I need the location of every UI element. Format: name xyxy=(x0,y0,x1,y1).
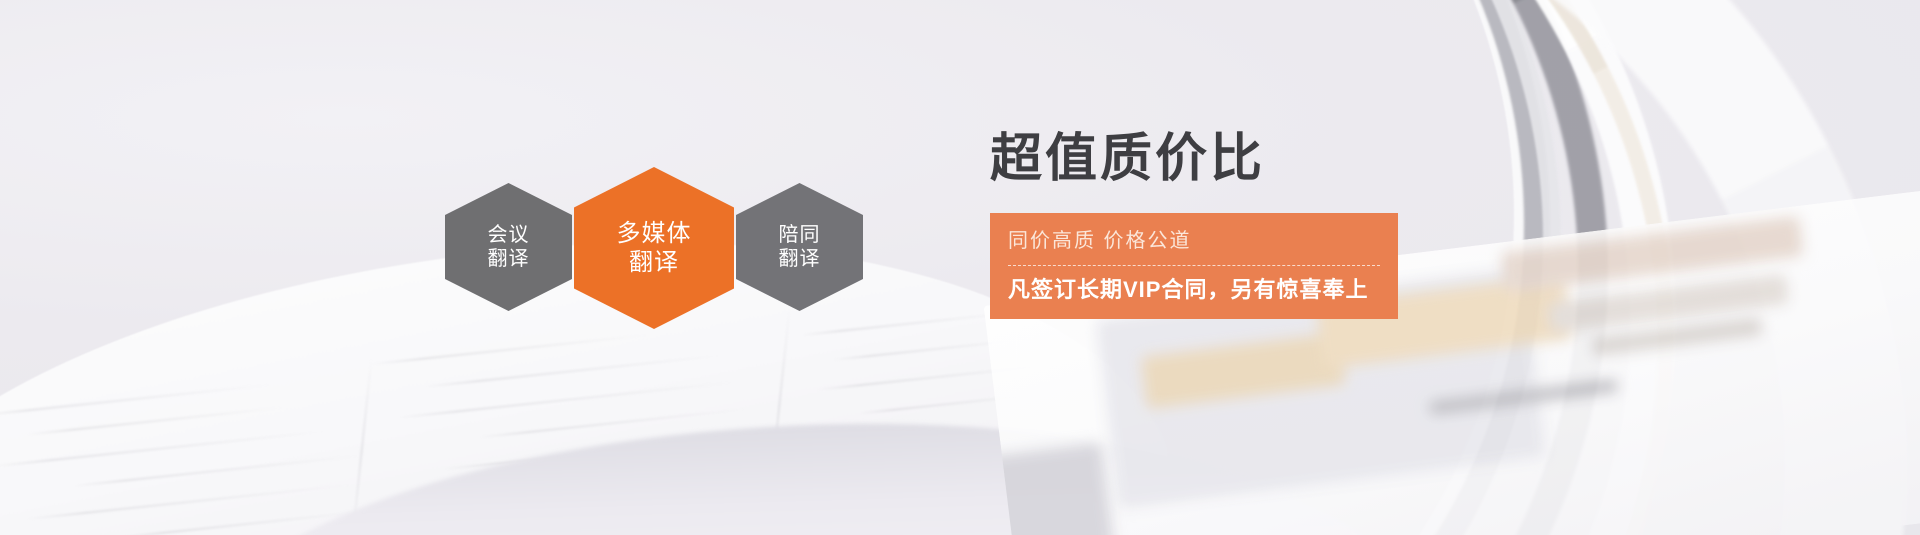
headline: 超值质价比 xyxy=(990,132,1510,187)
promotional-banner: 会议 翻译 多媒体 翻译 陪同 翻译 超值质价比 同价高质 价格公道 凡签订长期… xyxy=(0,0,1920,535)
promo-box: 同价高质 价格公道 凡签订长期VIP合同，另有惊喜奉上 xyxy=(990,213,1398,320)
copy-block: 超值质价比 同价高质 价格公道 凡签订长期VIP合同，另有惊喜奉上 xyxy=(990,132,1510,319)
hexagon-label-line2: 翻译 xyxy=(629,248,679,277)
promo-offer-text: 凡签订长期VIP合同，另有惊喜奉上 xyxy=(1008,275,1380,305)
hexagon-label-line1: 陪同 xyxy=(779,223,821,247)
hexagon-multimedia-translation[interactable]: 多媒体 翻译 xyxy=(574,167,734,329)
hexagon-label-line2: 翻译 xyxy=(488,247,530,271)
hexagon-conference-translation[interactable]: 会议 翻译 xyxy=(445,183,572,311)
background-photo-layer xyxy=(0,0,1920,535)
hexagon-label-line1: 多媒体 xyxy=(617,219,692,248)
hexagon-label-line2: 翻译 xyxy=(779,247,821,271)
promo-subtitle: 同价高质 价格公道 xyxy=(1008,226,1380,265)
service-hexagon-group: 会议 翻译 多媒体 翻译 陪同 翻译 xyxy=(440,165,890,340)
promo-divider xyxy=(1008,265,1380,266)
hexagon-label-line1: 会议 xyxy=(488,223,530,247)
hexagon-escort-translation[interactable]: 陪同 翻译 xyxy=(736,183,863,311)
